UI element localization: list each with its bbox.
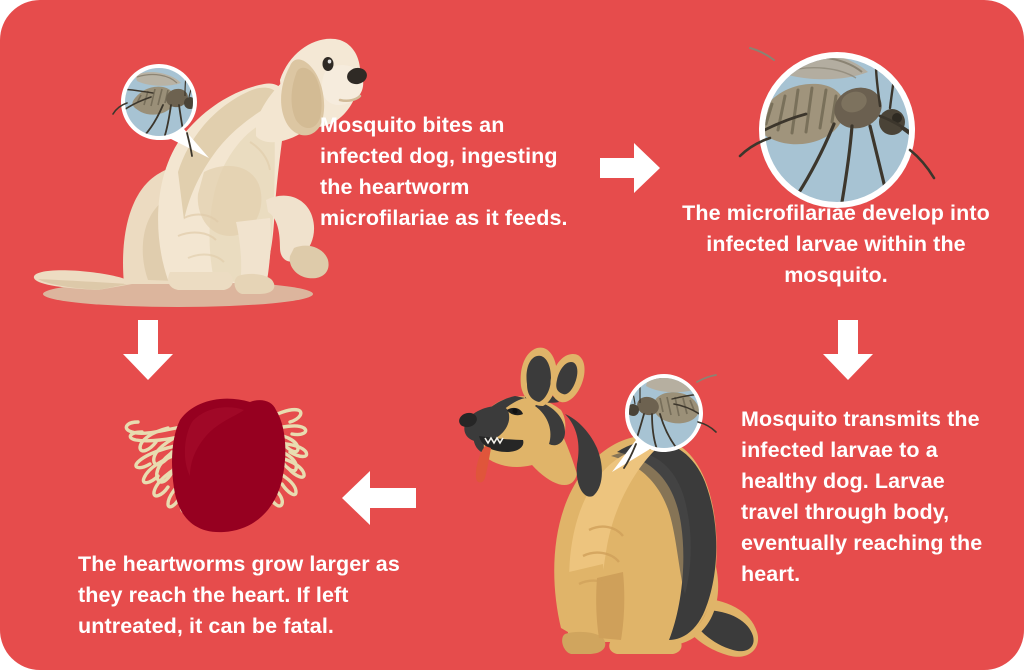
arrow-left-bottom (340, 468, 418, 528)
heartworm-lifecycle-infographic: Mosquito bites an infected dog, ingestin… (0, 0, 1024, 670)
arrow-left-icon (340, 468, 418, 528)
arrow-right-top (600, 140, 662, 196)
arrow-down-left-icon (120, 320, 176, 382)
arrow-down-right (820, 320, 876, 382)
mosquito-pin-retriever-svg (113, 57, 218, 167)
arrow-right-icon (600, 140, 662, 196)
mosquito-pin-shepherd (602, 368, 717, 480)
arrow-down-left (120, 320, 176, 382)
step-2-text: The microfilariae develop into infected … (672, 198, 1000, 291)
step-1-text: Mosquito bites an infected dog, ingestin… (320, 110, 590, 234)
mosquito-circle-large-svg (740, 38, 940, 223)
mosquito-circle-large (740, 38, 940, 223)
arrow-down-right-icon (820, 320, 876, 382)
step-3-text: Mosquito transmits the infected larvae t… (741, 404, 993, 590)
mosquito-pin-shepherd-svg (602, 368, 717, 480)
mosquito-pin-retriever (113, 57, 218, 167)
heart-with-worms-illustration (108, 392, 328, 537)
heart-with-worms-svg (108, 392, 328, 537)
step-4-text: The heartworms grow larger as they reach… (78, 549, 408, 642)
